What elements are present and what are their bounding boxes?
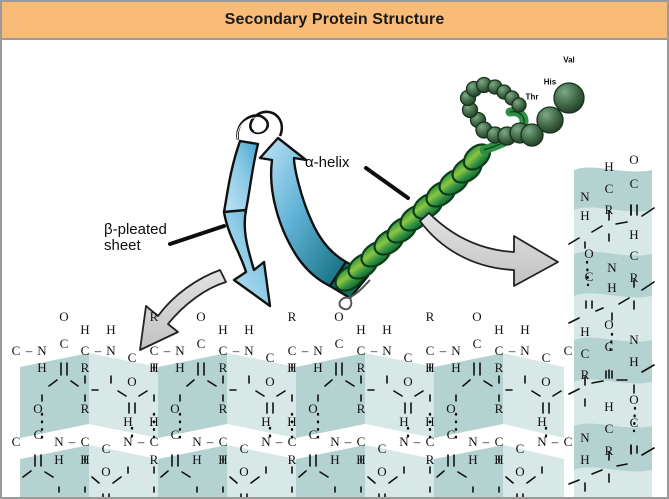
chem-atom: O [541,374,550,390]
chem-atom: N [468,434,477,450]
beta-sheet-label-line2: sheet [104,238,167,254]
chem-atom: H [494,452,503,468]
chem-atom: – [233,343,240,359]
chem-atom: H [604,399,613,415]
chem-atom: C [266,350,275,366]
chem-atom: C [516,441,525,457]
chem-atom: C [605,181,614,197]
chem-atom: H [37,360,46,376]
chem-atom: C [495,434,504,450]
chem-atom: H [425,414,434,430]
chem-atom: R [288,309,297,325]
chem-atom: N [123,434,132,450]
chem-atom: O [33,401,42,417]
chem-atom: R [150,309,159,325]
chem-atom: O [239,464,248,480]
chem-atom: R [581,367,590,383]
chem-atom: – [207,434,214,450]
chem-atom: C [630,176,639,192]
chem-atom: H [629,354,638,370]
chem-atom: H [244,322,253,338]
alpha-helix-label: α-helix [305,155,350,171]
chem-atom: H [149,360,158,376]
chem-atom: O [308,401,317,417]
chem-atom: H [261,414,270,430]
chem-atom: H [287,414,296,430]
chem-atom: C [495,343,504,359]
chem-atom: R [219,360,228,376]
chem-atom: – [276,434,283,450]
chem-atom: N [629,332,638,348]
chem-atom: N [580,430,589,446]
chem-atom: H [54,452,63,468]
chem-atom: – [138,434,145,450]
chem-atom: H [629,227,638,243]
amino-acid-bead-chain [461,78,585,147]
chem-atom: C [219,343,228,359]
chem-atom: – [552,434,559,450]
chem-atom: H [607,280,616,296]
chem-atom: H [356,322,365,338]
chem-atom: O [446,401,455,417]
chem-atom: H [192,452,201,468]
beta-sheet-label-line1: β-pleated [104,222,167,238]
chem-atom: N [175,343,184,359]
chem-atom: C [630,415,639,431]
chem-atom: O [604,317,613,333]
chem-atom: N [192,434,201,450]
chem-atom: O [265,374,274,390]
chem-atom: O [127,374,136,390]
chem-atom: C [128,350,137,366]
chem-atom: O [515,464,524,480]
chem-atom: H [175,360,184,376]
chem-atom: R [426,309,435,325]
chem-atom: C [34,427,43,443]
chem-atom: C [219,434,228,450]
chem-atom: N [106,343,115,359]
chem-atom: R [605,443,614,459]
chem-atom: – [509,343,516,359]
chem-atom: O [403,374,412,390]
chem-atom: H [604,159,613,175]
chem-atom: C [81,434,90,450]
chem-atom: C [171,427,180,443]
chem-atom: H [537,414,546,430]
chem-atom: R [357,401,366,417]
chem-atom: R [150,452,159,468]
chem-atom: N [399,434,408,450]
chem-atom: H [425,360,434,376]
chem-atom: C [357,343,366,359]
chem-atom: C [605,421,614,437]
chem-atom: C [585,269,594,285]
chem-atom: C [426,343,435,359]
chem-atom: N [261,434,270,450]
chem-atom: R [219,401,228,417]
chem-atom: H [313,360,322,376]
diagram-artwork [2,40,667,497]
chem-atom: – [440,343,447,359]
chem-atom: C [605,339,614,355]
chem-atom: C [378,441,387,457]
chem-atom: H [123,414,132,430]
chem-atom: N [37,343,46,359]
chem-atom: H [149,414,158,430]
chem-atom: R [605,202,614,218]
chem-atom: C [426,434,435,450]
chem-atom: R [357,360,366,376]
chem-atom: – [95,343,102,359]
chem-atom: H [330,452,339,468]
chem-atom: O [584,246,593,262]
chem-atom: C [12,343,21,359]
figure-canvas: β-pleated sheet α-helix C–NHCOCRH–NHCOCR… [2,40,667,497]
chem-atom: C [288,343,297,359]
chem-atom: H [218,322,227,338]
chem-atom: – [69,434,76,450]
chem-atom: C [447,427,456,443]
page-title: Secondary Protein Structure [225,11,445,29]
chem-atom: O [101,464,110,480]
chem-atom: N [54,434,63,450]
amino-acid-bead-label: Val [563,56,575,65]
chem-atom: R [81,360,90,376]
chem-atom: R [81,401,90,417]
chem-atom: N [607,260,616,276]
chem-atom: N [313,343,322,359]
chem-atom: – [26,343,33,359]
chem-atom: H [80,322,89,338]
chem-atom: R [495,360,504,376]
chem-atom: N [451,343,460,359]
chem-atom: – [414,434,421,450]
chem-atom: R [426,452,435,468]
figure-title-bar: Secondary Protein Structure [2,2,667,40]
chem-atom: N [244,343,253,359]
chem-atom: – [371,343,378,359]
chem-atom: C [404,350,413,366]
chem-atom: O [629,152,638,168]
chem-atom: O [472,309,481,325]
chem-atom: C [473,336,482,352]
chem-atom: C [150,343,159,359]
chem-atom: O [59,309,68,325]
chem-atom: H [287,360,296,376]
chem-atom: C [357,434,366,450]
chem-atom: C [12,434,21,450]
chem-atom: H [580,208,589,224]
chem-atom: H [382,322,391,338]
chem-atom: N [330,434,339,450]
chem-atom: H [468,452,477,468]
chem-atom: C [60,336,69,352]
chem-atom: C [197,336,206,352]
chem-atom: N [520,343,529,359]
amino-acid-bead-label: His [544,78,556,87]
chem-atom: C [150,434,159,450]
chem-atom: – [345,434,352,450]
chem-atom: H [106,322,115,338]
chem-atom: C [309,427,318,443]
chem-atom: R [495,401,504,417]
chem-atom: C [288,434,297,450]
chem-atom: C [335,336,344,352]
beta-sheet-label: β-pleated sheet [104,222,167,254]
chem-atom: C [564,343,573,359]
chem-atom: H [494,322,503,338]
callout-arrow-right [420,213,558,286]
chem-atom: O [377,464,386,480]
chem-atom: N [382,343,391,359]
chem-atom: H [580,324,589,340]
chem-atom: R [630,270,639,286]
chem-atom: C [564,434,573,450]
chem-atom: H [399,414,408,430]
figure-panel: Secondary Protein Structure [0,0,669,499]
chem-atom: C [542,350,551,366]
chem-atom: H [451,360,460,376]
chem-atom: H [520,322,529,338]
chem-atom: H [580,452,589,468]
chem-atom: H [80,452,89,468]
amino-acid-bead-label: Thr [526,93,539,102]
chem-atom: R [288,452,297,468]
chem-atom: C [81,343,90,359]
chem-atom: C [240,441,249,457]
chem-atom: O [196,309,205,325]
chem-atom: O [334,309,343,325]
chem-atom: C [102,441,111,457]
chem-atom: C [581,346,590,362]
chem-atom: – [483,434,490,450]
chem-atom: O [629,392,638,408]
chem-atom: N [580,189,589,205]
chem-atom: O [170,401,179,417]
chem-atom: N [537,434,546,450]
chem-atom: C [630,248,639,264]
chem-atom: H [356,452,365,468]
chem-atom: H [218,452,227,468]
chem-atom: – [302,343,309,359]
chem-atom: – [164,343,171,359]
